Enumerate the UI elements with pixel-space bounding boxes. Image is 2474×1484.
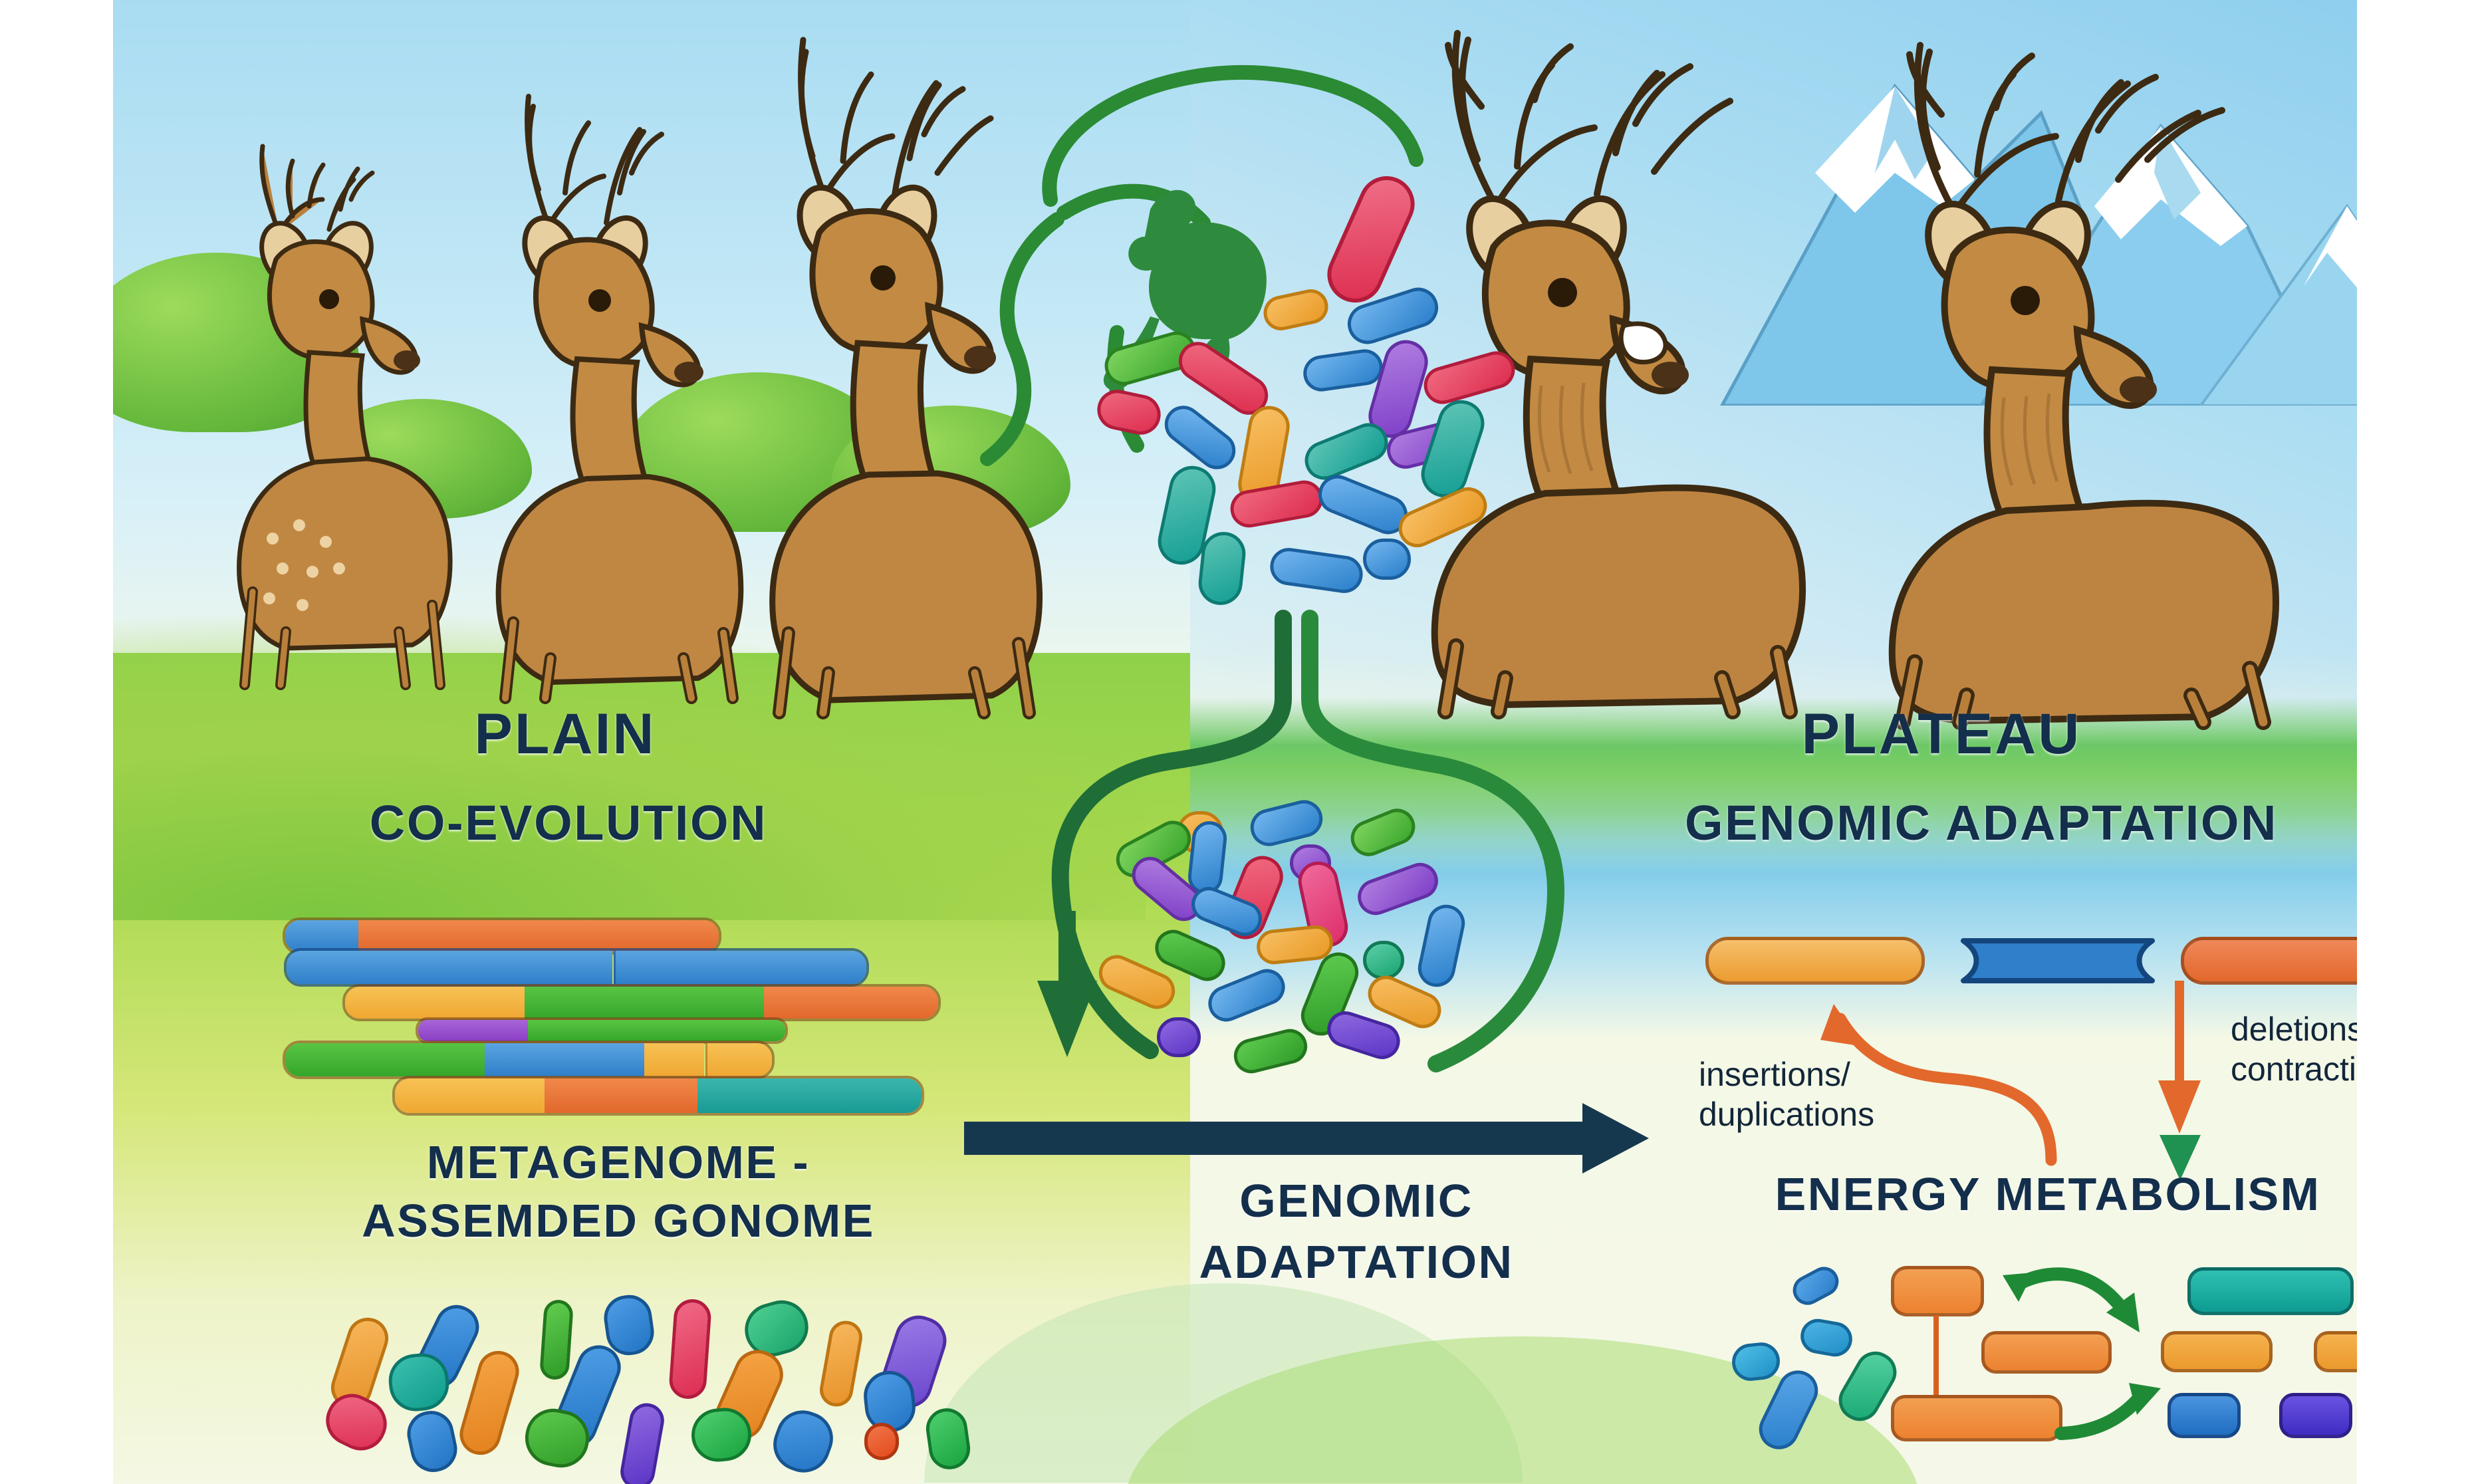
- product-amber-small: [2314, 1331, 2357, 1372]
- center-label-line2: ADAPTATION: [1057, 1238, 1656, 1287]
- contig-segment: [485, 1043, 644, 1076]
- contig-bar: [284, 948, 869, 987]
- contig-segment: [545, 1078, 697, 1113]
- contig-segment: [285, 1043, 485, 1076]
- microbe: [539, 1299, 574, 1381]
- microbe: [1230, 1025, 1310, 1077]
- microbe: [817, 1318, 865, 1410]
- microbe: [1157, 1017, 1201, 1057]
- contig-bar: [283, 1041, 775, 1079]
- plain-region-title: PLAIN: [366, 705, 765, 764]
- microbe: [618, 1400, 667, 1484]
- substrate-block-top: [1891, 1266, 1984, 1316]
- contig-segment: [395, 1078, 545, 1113]
- mag-panel-title-line2: ASSEMDED GONOME: [180, 1197, 1057, 1245]
- microbe: [668, 1298, 712, 1400]
- deletions-label-line1: deletions/: [2231, 1011, 2357, 1048]
- deleted-gene-block: [2181, 937, 2357, 985]
- mag-contig-stack: [283, 918, 1027, 1124]
- metabolism-arrow-lower-icon: [2054, 1382, 2181, 1448]
- microbe: [1788, 1262, 1844, 1310]
- microbe: [1798, 1316, 1855, 1360]
- plateau-subtitle: GENOMIC ADAPTATION: [1609, 798, 2354, 849]
- contig-segment: [705, 1043, 775, 1076]
- microbe: [1247, 797, 1326, 850]
- microbe: [924, 1406, 973, 1472]
- microbe: [1157, 398, 1243, 477]
- plateau-region-title: PLATEAU: [1729, 705, 2154, 764]
- mag-panel-title-line1: METAGENOME -: [226, 1138, 1011, 1187]
- bottom-left-microbes: [306, 1290, 1031, 1476]
- contig-bar: [392, 1076, 924, 1116]
- microbe: [766, 1403, 840, 1480]
- product-teal-block: [2187, 1267, 2354, 1315]
- contig-segment: [525, 987, 764, 1019]
- microbe: [1353, 858, 1443, 920]
- plain-deer-1: [193, 100, 472, 698]
- microbe: [318, 1386, 396, 1459]
- energy-metabolism-title: ENERGY METABOLISM: [1662, 1170, 2357, 1219]
- deletions-label-line2: contractions: [2231, 1051, 2357, 1088]
- contig-segment: [764, 987, 941, 1019]
- contig-bar: [416, 1017, 788, 1044]
- insertions-label-line1: insertions/: [1699, 1056, 1850, 1093]
- product-amber-large: [2161, 1331, 2273, 1372]
- microbe: [1363, 941, 1404, 979]
- contig-segment: [358, 920, 721, 952]
- microbe: [1301, 347, 1385, 394]
- contig-segment: [345, 987, 525, 1019]
- microbe: [864, 1423, 899, 1460]
- insertions-label-line2: duplications: [1699, 1096, 1874, 1133]
- product-violet-block: [2279, 1393, 2352, 1438]
- contig-segment: [528, 1020, 788, 1041]
- contig-segment: [697, 1078, 924, 1113]
- intermediate-block: [1981, 1331, 2112, 1374]
- graphical-abstract-figure: PLAIN CO-EVOLUTION PLATEAU GENOMIC ADAPT…: [113, 0, 2357, 1484]
- substrate-block-bottom: [1891, 1395, 2062, 1441]
- microbe: [455, 1346, 524, 1460]
- contig-bar: [342, 984, 941, 1021]
- expanded-gene-block: [1705, 937, 1925, 985]
- microbe: [1094, 386, 1164, 439]
- contig-segment: [614, 951, 869, 984]
- microbe: [1346, 803, 1421, 862]
- contig-segment: [644, 1043, 704, 1076]
- upper-center-microbes: [1084, 140, 1496, 592]
- contracted-gene-block: [1958, 938, 2158, 983]
- plain-deer-3: [698, 13, 1070, 718]
- pathway-connector: [1933, 1315, 1939, 1398]
- microbe: [1261, 286, 1332, 333]
- microbe: [1363, 539, 1411, 580]
- contig-segment: [285, 920, 358, 952]
- microbe: [1268, 546, 1365, 596]
- contig-segment: [418, 1020, 528, 1041]
- center-label-line1: GENOMIC: [1057, 1177, 1656, 1225]
- contig-segment: [287, 951, 612, 984]
- plain-subtitle: CO-EVOLUTION: [219, 798, 918, 849]
- microbe: [1415, 902, 1469, 991]
- gut-lumen-microbes: [1090, 798, 1556, 1110]
- plateau-stag-2: [1815, 27, 2357, 725]
- energy-metabolism-diagram: [1729, 1257, 2357, 1476]
- product-blue-block: [2167, 1393, 2241, 1438]
- gene-block-row: [1705, 934, 2357, 994]
- microbe: [1299, 418, 1394, 485]
- microbe: [1730, 1340, 1781, 1382]
- microbe: [403, 1407, 461, 1477]
